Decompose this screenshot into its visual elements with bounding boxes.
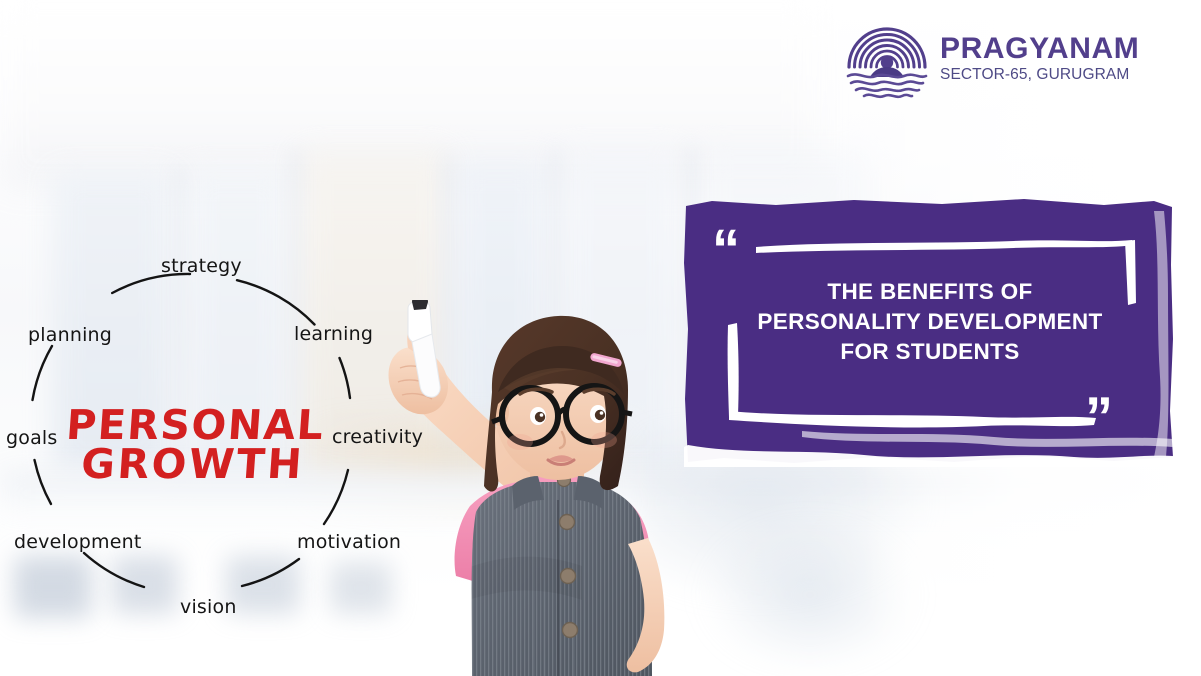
diagram-label-strategy: strategy xyxy=(161,255,242,277)
headline-line-2: PERSONALITY DEVELOPMENT xyxy=(718,307,1142,337)
logo[interactable]: PRAGYANAM SECTOR-65, GURUGRAM xyxy=(846,14,1156,104)
logo-brand-text: PRAGYANAM xyxy=(940,34,1139,65)
promo-banner-canvas: strategy learning creativity motivation … xyxy=(0,0,1201,676)
diagram-center-title: PERSONAL GROWTH xyxy=(51,406,337,485)
headline-text: THE BENEFITS OF PERSONALITY DEVELOPMENT … xyxy=(718,277,1142,367)
headline-banner: “ ” THE BENEFITS OF PERSONALITY DEVELOPM… xyxy=(684,199,1174,467)
diagram-label-vision: vision xyxy=(180,596,237,618)
logo-wordmark: PRAGYANAM SECTOR-65, GURUGRAM xyxy=(940,34,1139,85)
diagram-label-goals: goals xyxy=(6,427,58,449)
diagram-center-line2: GROWTH xyxy=(80,440,306,488)
headline-line-3: FOR STUDENTS xyxy=(718,337,1142,367)
headline-line-1: THE BENEFITS OF xyxy=(718,277,1142,307)
pragyanam-sun-water-logo-icon xyxy=(846,17,928,101)
close-quote-icon: ” xyxy=(1085,389,1113,445)
open-quote-icon: “ xyxy=(712,221,740,277)
diagram-label-planning: planning xyxy=(28,324,112,346)
diagram-label-development: development xyxy=(14,531,142,553)
logo-subtitle-text: SECTOR-65, GURUGRAM xyxy=(940,66,1139,84)
